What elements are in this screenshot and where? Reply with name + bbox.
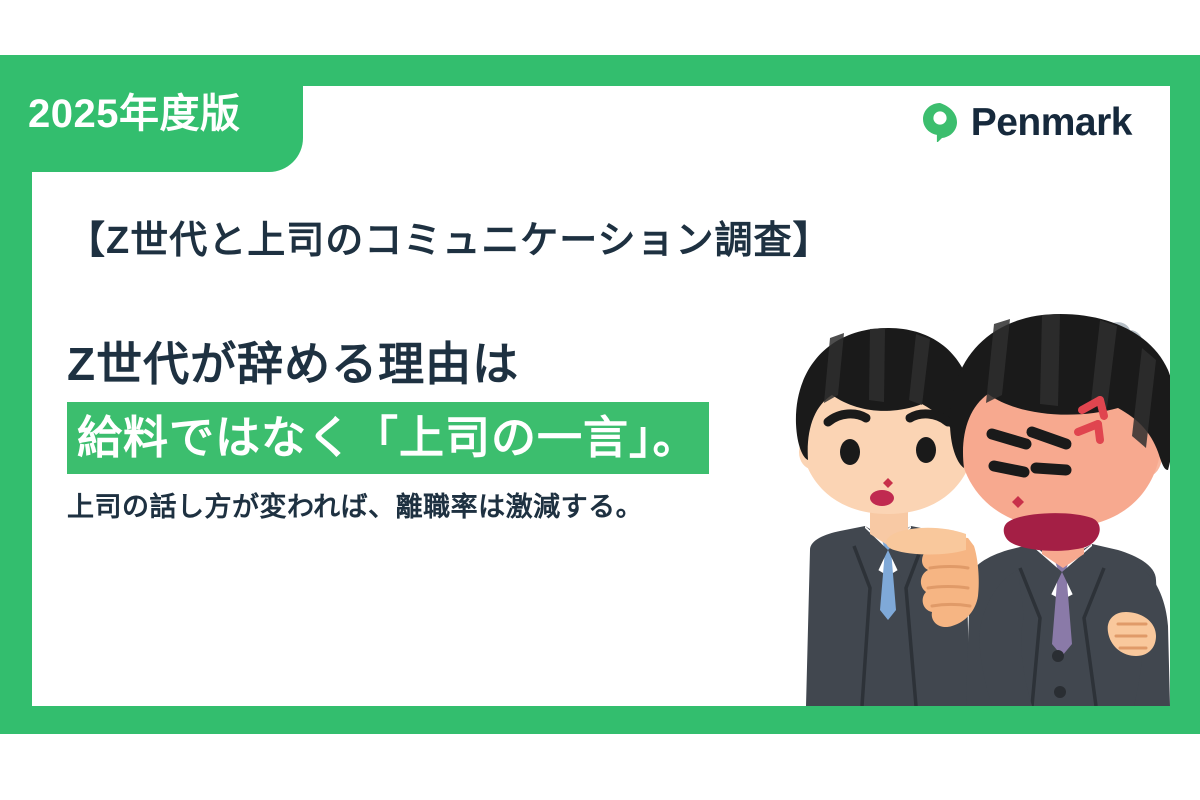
speech-bubble-p-icon — [923, 102, 957, 142]
year-badge-label: 2025年度版 — [28, 94, 240, 134]
poster-canvas: 2025年度版 Penmark 【Z世代と上司のコミュニケーション調査】 Z世代… — [0, 0, 1200, 800]
year-badge: 2025年度版 — [0, 55, 303, 172]
copy-block: 【Z世代と上司のコミュニケーション調査】 Z世代が辞める理由は 給料ではなく「上… — [67, 218, 867, 526]
headline-line-2-highlight: 給料ではなく「上司の一言」。 — [67, 402, 709, 474]
young-employee-figure — [796, 328, 976, 706]
sub-headline: 上司の話し方が変われば、離職率は激減する。 — [67, 490, 867, 525]
survey-kicker: 【Z世代と上司のコミュニケーション調査】 — [67, 218, 867, 266]
headline-line-1: Z世代が辞める理由は — [67, 338, 867, 391]
brand-logo: Penmark — [923, 102, 1132, 142]
brand-name: Penmark — [971, 103, 1132, 142]
angry-boss-illustration — [770, 300, 1170, 706]
headline-line-2-wrapper: 給料ではなく「上司の一言」。 — [67, 402, 867, 474]
